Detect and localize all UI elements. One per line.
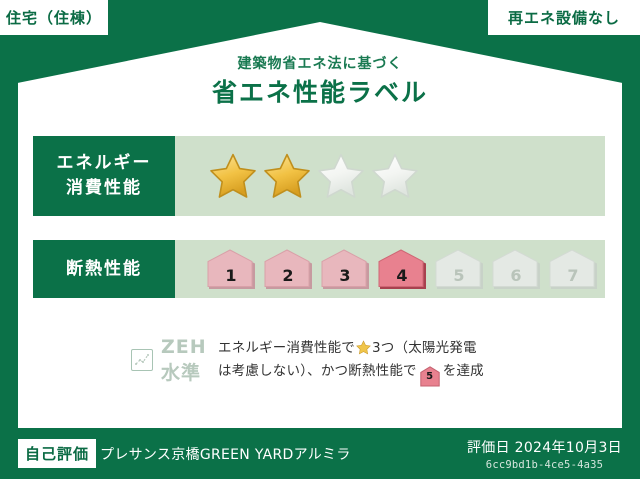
insulation-grade-value: 7 bbox=[567, 266, 578, 290]
inline-grade-badge: 5 bbox=[420, 366, 440, 383]
label-subtitle: 建築物省エネ法に基づく bbox=[0, 56, 640, 73]
insulation-performance-label: 断熱性能 bbox=[33, 240, 175, 298]
insulation-grade-7: 7 bbox=[547, 248, 599, 290]
insulation-grade-value: 6 bbox=[510, 266, 521, 290]
zeh-mark: ZEH水準 bbox=[33, 336, 218, 385]
renewable-equipment-tag: 再エネ設備なし bbox=[488, 0, 640, 35]
evaluation-id: 6cc9bd1b-4ce5-4a35 bbox=[467, 459, 622, 471]
insulation-grade-4: 4 bbox=[376, 248, 428, 290]
insulation-grade-3: 3 bbox=[319, 248, 371, 290]
zeh-desc-line2-post: を達成 bbox=[443, 363, 484, 379]
energy-performance-label: 住宅（住棟） 再エネ設備なし 建築物省エネ法に基づく 省エネ性能ラベル エネルギ… bbox=[0, 0, 640, 479]
self-evaluation-badge: 自己評価 bbox=[18, 439, 96, 468]
insulation-grade-2: 2 bbox=[262, 248, 314, 290]
insulation-grade-value: 3 bbox=[339, 266, 350, 290]
zeh-chart-icon bbox=[131, 349, 153, 371]
insulation-grade-value: 5 bbox=[453, 266, 464, 290]
inline-grade-value: 5 bbox=[420, 366, 440, 387]
label-header: 建築物省エネ法に基づく 省エネ性能ラベル bbox=[0, 56, 640, 108]
insulation-grade-value: 2 bbox=[282, 266, 293, 290]
energy-performance-label: エネルギー 消費性能 bbox=[33, 136, 175, 216]
energy-label-line-1: エネルギー bbox=[57, 151, 152, 176]
energy-performance-row: エネルギー 消費性能 bbox=[33, 136, 605, 216]
energy-label-line-2: 消費性能 bbox=[66, 176, 142, 201]
evaluation-meta: 評価日 2024年10月3日 6cc9bd1b-4ce5-4a35 bbox=[467, 437, 622, 471]
insulation-label-text: 断熱性能 bbox=[66, 257, 142, 282]
insulation-performance-row: 断熱性能 1234567 bbox=[33, 240, 605, 298]
zeh-label-text: ZEH水準 bbox=[161, 336, 218, 385]
insulation-grade-scale: 1234567 bbox=[175, 240, 605, 298]
insulation-grade-value: 1 bbox=[225, 266, 236, 290]
dwelling-type-tag: 住宅（住棟） bbox=[0, 0, 108, 35]
zeh-standard-row: ZEH水準 エネルギー消費性能で3つ（太陽光発電 は考慮しない）、かつ断熱性能で… bbox=[33, 330, 605, 390]
insulation-grade-6: 6 bbox=[490, 248, 542, 290]
insulation-grade-value: 4 bbox=[396, 266, 407, 290]
zeh-desc-line2-pre: は考慮しない）、かつ断熱性能で bbox=[218, 363, 417, 379]
insulation-grade-1: 1 bbox=[205, 248, 257, 290]
star-rating bbox=[175, 136, 605, 216]
evaluation-date: 評価日 2024年10月3日 bbox=[467, 437, 622, 457]
star-icon-empty bbox=[317, 152, 365, 200]
star-icon bbox=[356, 340, 371, 355]
building-name: プレサンス京橋GREEN YARDアルミラ bbox=[100, 444, 467, 464]
zeh-desc-line1-post: 3つ（太陽光発電 bbox=[372, 340, 477, 356]
star-icon-empty bbox=[371, 152, 419, 200]
star-icon-filled bbox=[209, 152, 257, 200]
label-footer: 自己評価 プレサンス京橋GREEN YARDアルミラ 評価日 2024年10月3… bbox=[0, 428, 640, 479]
zeh-description: エネルギー消費性能で3つ（太陽光発電 は考慮しない）、かつ断熱性能で5を達成 bbox=[218, 337, 605, 382]
insulation-grade-5: 5 bbox=[433, 248, 485, 290]
page-title: 省エネ性能ラベル bbox=[0, 78, 640, 108]
star-icon-filled bbox=[263, 152, 311, 200]
zeh-desc-line1-pre: エネルギー消費性能で bbox=[218, 340, 355, 356]
